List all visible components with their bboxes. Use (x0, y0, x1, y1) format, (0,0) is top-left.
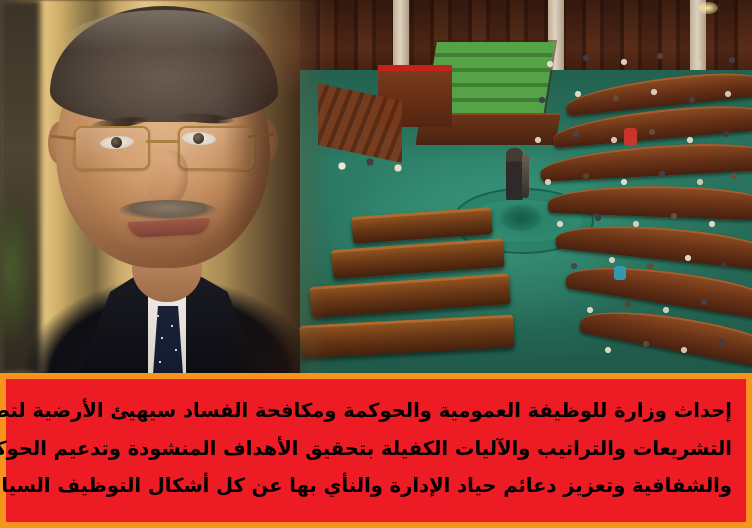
red-jacket-member (624, 128, 637, 146)
clerks-table-figures (328, 150, 418, 196)
glasses-bridge (146, 140, 180, 143)
portrait-photo (0, 0, 330, 373)
nose (146, 150, 188, 206)
ceiling-light-icon (698, 2, 718, 14)
news-graphic-card: إحداث وزارة للوظيفة العمومية والحوكمة وم… (0, 0, 752, 528)
hair (50, 6, 278, 122)
desk-papers (536, 60, 752, 370)
glasses-lens-right (178, 126, 254, 170)
standing-speaker-figure (506, 148, 523, 200)
moustache (120, 200, 216, 220)
glasses-lens-left (74, 126, 150, 170)
chin-shadow (112, 238, 220, 264)
caption-line-1: إحداث وزارة للوظيفة العمومية والحوكمة وم… (20, 392, 732, 429)
blue-headscarf-member (614, 266, 626, 280)
caption-banner: إحداث وزارة للوظيفة العمومية والحوكمة وم… (0, 373, 752, 528)
photo-composite (0, 0, 752, 373)
caption-line-2: التشريعات والتراتيب والآليات الكفيلة بتح… (20, 430, 732, 467)
caption-line-3: والشفافية وتعزيز دعائم حياد الإدارة والن… (20, 467, 732, 504)
caption-banner-inner: إحداث وزارة للوظيفة العمومية والحوكمة وم… (6, 379, 746, 522)
